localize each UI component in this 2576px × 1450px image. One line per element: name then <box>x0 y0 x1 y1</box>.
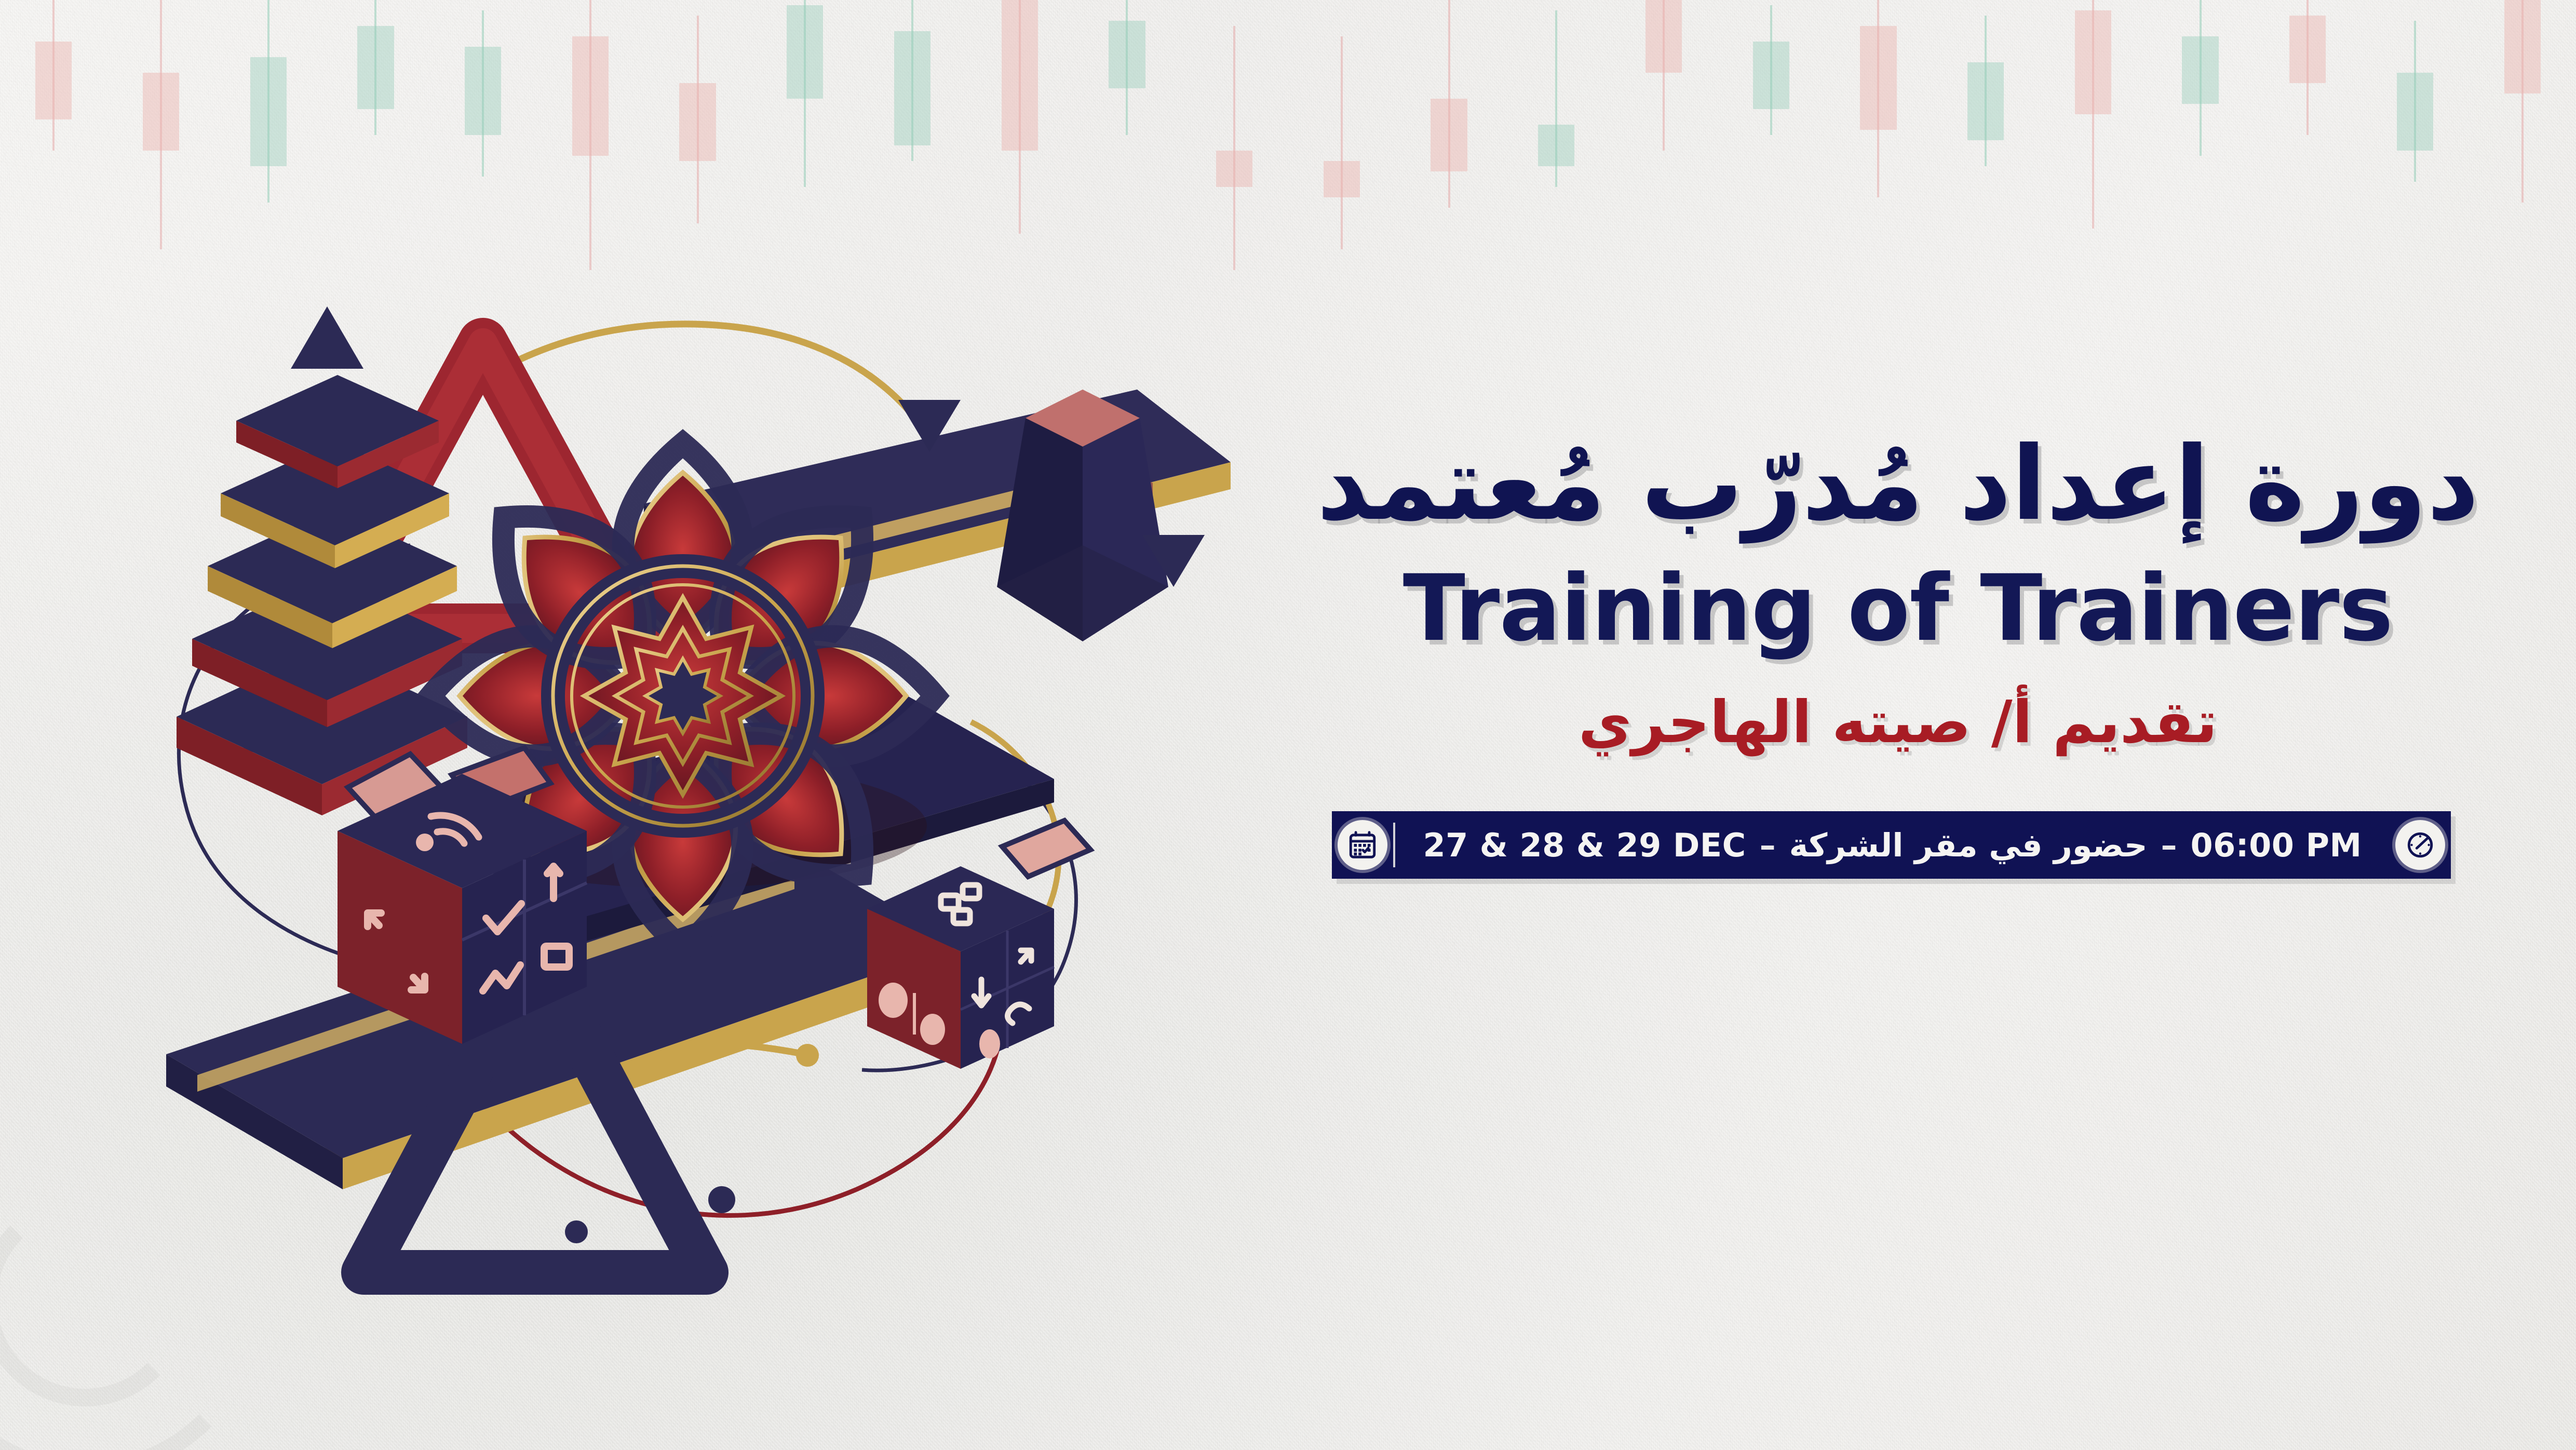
candlestick-body <box>465 47 501 135</box>
candlestick-body <box>1431 99 1467 171</box>
clock-icon <box>2395 820 2445 870</box>
bar-divider <box>1393 823 1395 867</box>
candlestick <box>2504 0 2541 374</box>
candlestick-body <box>2504 0 2541 93</box>
candlestick-wick <box>1341 36 1343 249</box>
page-title-arabic: دورة إعداد مُدرّب مُعتمد <box>1309 431 2487 538</box>
event-details-bar: 06:00 PM – حضور في مقر الشركة – 27 & 28 … <box>1332 811 2451 879</box>
candlestick <box>1753 0 1789 374</box>
candlestick <box>1967 0 2004 374</box>
event-time: 06:00 PM <box>2191 826 2362 864</box>
event-location: حضور في مقر الشركة <box>1789 826 2148 864</box>
candlestick-body <box>1538 125 1574 166</box>
candlestick-body <box>2397 73 2433 151</box>
calendar-check-icon <box>1338 820 1387 870</box>
calendar-icon-wrap <box>1332 811 1393 879</box>
candlestick-body <box>787 5 823 99</box>
presenter-name: تقديم أ/ صيته الهاجري <box>1309 691 2487 755</box>
candlestick-body <box>1753 42 1789 109</box>
candlestick <box>2182 0 2218 374</box>
clock-icon-wrap <box>2390 811 2451 879</box>
icon-cube-right <box>119 171 1329 1314</box>
candlestick-body <box>357 26 394 109</box>
event-details-text: 06:00 PM – حضور في مقر الشركة – 27 & 28 … <box>1395 826 2390 864</box>
candlestick-body <box>2075 10 2111 114</box>
candlestick-body <box>1109 21 1145 88</box>
candlestick-body <box>894 31 930 145</box>
candlestick-body <box>2182 36 2218 104</box>
isometric-3d-illustration <box>119 171 1329 1314</box>
candlestick-body <box>679 83 716 161</box>
candlestick-body <box>1967 62 2004 140</box>
candlestick-body <box>1860 26 1896 130</box>
candlestick <box>1538 0 1574 374</box>
candlestick-body <box>1002 0 1038 151</box>
candlestick-body <box>143 73 179 151</box>
candlestick <box>35 0 72 374</box>
candlestick-body <box>35 42 72 119</box>
candlestick-body <box>1646 0 1682 73</box>
candlestick <box>2075 0 2111 374</box>
candlestick-body <box>2289 16 2326 83</box>
separator-left: – <box>1758 826 1778 864</box>
banner-canvas: دورة إعداد مُدرّب مُعتمد Training of Tra… <box>0 0 2576 1450</box>
separator-right: – <box>2159 826 2179 864</box>
candlestick <box>1646 0 1682 374</box>
candlestick <box>1431 0 1467 374</box>
candlestick <box>1860 0 1896 374</box>
candlestick <box>2397 0 2433 374</box>
candlestick <box>2289 0 2326 374</box>
page-title-english: Training of Trainers <box>1309 561 2487 656</box>
event-dates: 27 & 28 & 29 DEC <box>1423 826 1746 864</box>
candlestick-body <box>572 36 609 156</box>
candlestick-body <box>250 57 287 166</box>
